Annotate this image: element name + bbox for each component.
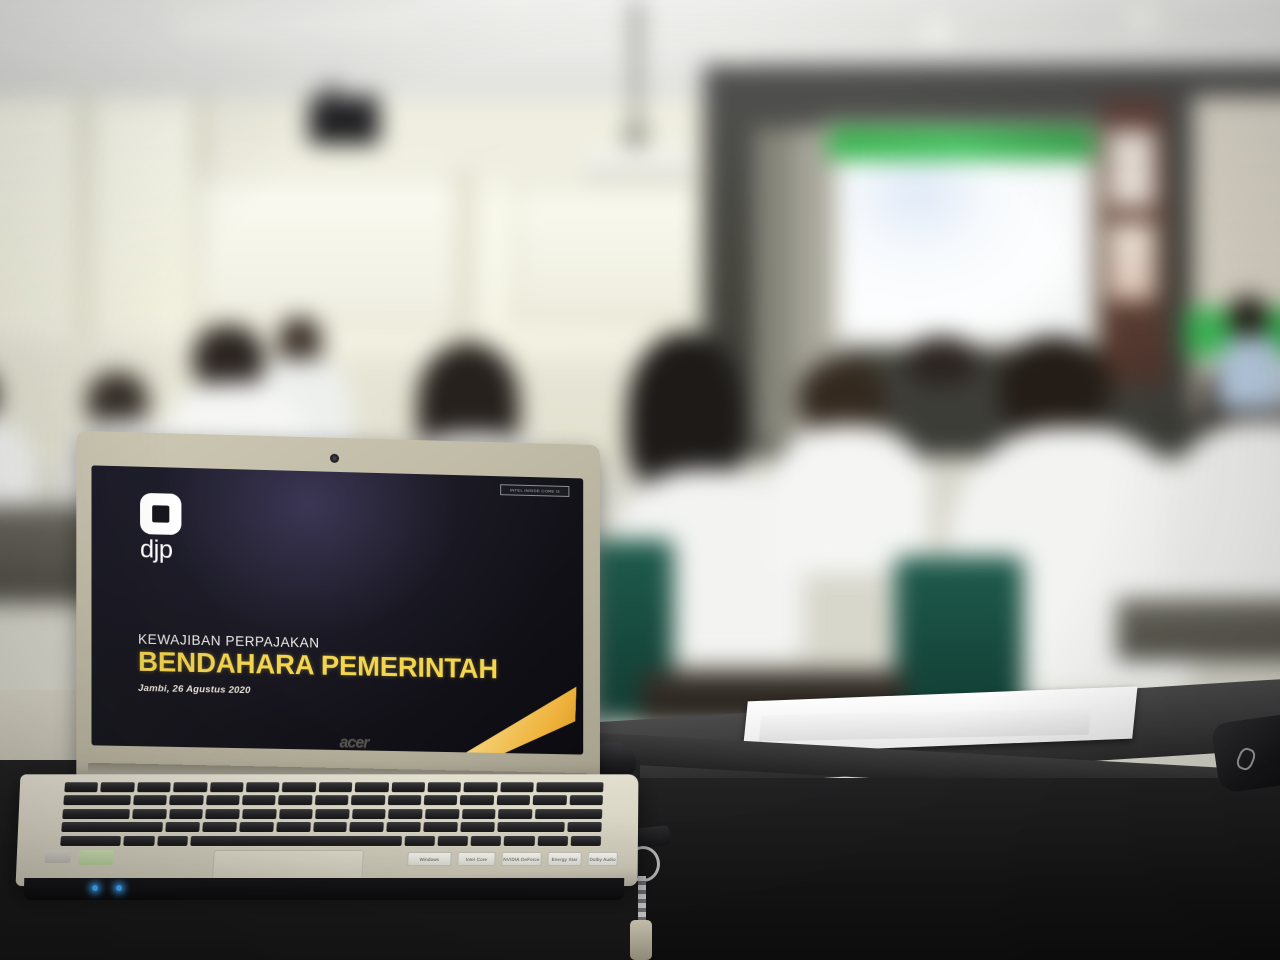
screen-spec-sticker: INTEL INSIDE CORE i3 bbox=[500, 484, 569, 497]
key bbox=[157, 836, 188, 846]
charge-led-icon bbox=[116, 885, 122, 891]
keyboard-row bbox=[61, 822, 602, 832]
air-conditioner bbox=[585, 149, 691, 179]
key bbox=[242, 809, 276, 819]
key bbox=[567, 822, 601, 832]
wall-poster-1 bbox=[1109, 130, 1156, 206]
key bbox=[279, 809, 313, 819]
key bbox=[278, 796, 312, 806]
key bbox=[206, 809, 240, 819]
key bbox=[202, 822, 236, 832]
laptop-screen[interactable]: djp KEWAJIBAN PERPAJAKAN BENDAHARA PEMER… bbox=[91, 465, 583, 754]
green-banner-strip bbox=[829, 128, 1094, 160]
palm-sticker-plain bbox=[44, 850, 71, 863]
key bbox=[242, 796, 276, 806]
ceiling-hanger-knob bbox=[625, 126, 646, 147]
key bbox=[210, 782, 244, 792]
key bbox=[387, 796, 421, 806]
presentation-slide: djp KEWAJIBAN PERPAJAKAN BENDAHARA PEMER… bbox=[91, 465, 583, 754]
djp-logo-word: djp bbox=[140, 537, 192, 563]
acer-brand-logo: acer bbox=[314, 733, 394, 753]
key bbox=[471, 836, 502, 846]
ceiling-light-4 bbox=[1121, 5, 1163, 33]
slide-text-block: KEWAJIBAN PERPAJAKAN BENDAHARA PEMERINTA… bbox=[138, 631, 498, 701]
palm-sticker-intel: Intel Core bbox=[457, 852, 496, 866]
key bbox=[351, 796, 385, 806]
key bbox=[504, 836, 535, 846]
laptop-front-edge bbox=[24, 878, 625, 900]
djp-logo: djp bbox=[140, 493, 192, 564]
key bbox=[535, 809, 603, 819]
key bbox=[438, 836, 469, 846]
palm-sticker-green bbox=[78, 850, 113, 865]
laptop-base: Windows Intel Core NVIDIA GeForce Energy… bbox=[16, 774, 639, 886]
key bbox=[533, 796, 567, 806]
key bbox=[124, 836, 155, 846]
djp-square-mark-icon bbox=[140, 493, 181, 535]
key bbox=[460, 822, 494, 832]
palm-sticker-energy-star: Energy Star bbox=[547, 852, 582, 866]
key-tag bbox=[630, 920, 652, 960]
wall-monitor bbox=[309, 96, 379, 144]
key bbox=[460, 796, 494, 806]
key bbox=[537, 782, 604, 792]
palm-sticker-windows: Windows bbox=[407, 852, 452, 866]
key bbox=[101, 782, 135, 792]
key bbox=[133, 796, 167, 806]
key bbox=[62, 809, 130, 819]
key bbox=[169, 796, 203, 806]
key bbox=[462, 809, 496, 819]
key bbox=[497, 822, 565, 832]
whiteboard-left bbox=[197, 175, 462, 323]
key bbox=[313, 822, 347, 832]
key bbox=[315, 809, 349, 819]
wall-poster-2 bbox=[1109, 223, 1156, 299]
key bbox=[355, 782, 389, 792]
key bbox=[497, 796, 531, 806]
desk-front-panel bbox=[600, 778, 1280, 960]
key bbox=[388, 809, 422, 819]
key bbox=[246, 782, 280, 792]
key bbox=[386, 822, 420, 832]
slide-title: BENDAHARA PEMERINTAH bbox=[138, 646, 498, 683]
key bbox=[64, 782, 98, 792]
palm-sticker-dolby: Dolby Audio bbox=[587, 852, 618, 866]
space-key bbox=[190, 836, 402, 846]
power-led-icon bbox=[92, 885, 98, 891]
key bbox=[425, 809, 459, 819]
whiteboard-center bbox=[513, 183, 704, 321]
key bbox=[500, 782, 534, 792]
key bbox=[60, 836, 121, 846]
screen-spec-sticker-text: INTEL INSIDE CORE i3 bbox=[510, 488, 560, 494]
key bbox=[132, 809, 166, 819]
key bbox=[166, 822, 200, 832]
photo-scene: djp KEWAJIBAN PERPAJAKAN BENDAHARA PEMER… bbox=[0, 0, 1280, 960]
key bbox=[137, 782, 171, 792]
key bbox=[569, 796, 603, 806]
keyboard-row bbox=[63, 796, 603, 806]
key bbox=[350, 822, 384, 832]
key bbox=[424, 796, 458, 806]
key bbox=[173, 782, 207, 792]
key bbox=[498, 809, 532, 819]
projector-screen bbox=[837, 160, 1089, 342]
key bbox=[391, 782, 425, 792]
key bbox=[206, 796, 240, 806]
key bbox=[61, 822, 163, 832]
ceiling-hanger-rod bbox=[634, 1, 639, 137]
trackpad[interactable] bbox=[212, 850, 364, 880]
laptop-lid: djp KEWAJIBAN PERPAJAKAN BENDAHARA PEMER… bbox=[76, 431, 600, 788]
key bbox=[404, 836, 435, 846]
key bbox=[315, 796, 349, 806]
key bbox=[319, 782, 353, 792]
ceiling-light-3 bbox=[916, 18, 958, 46]
interior-desk-right bbox=[1117, 599, 1280, 660]
key bbox=[63, 796, 130, 806]
key bbox=[239, 822, 273, 832]
key bbox=[537, 836, 568, 846]
key bbox=[423, 822, 457, 832]
webcam-icon bbox=[330, 454, 339, 463]
key bbox=[282, 782, 316, 792]
palm-sticker-nvidia: NVIDIA GeForce bbox=[501, 852, 542, 866]
laptop[interactable]: djp KEWAJIBAN PERPAJAKAN BENDAHARA PEMER… bbox=[18, 438, 638, 908]
key bbox=[169, 809, 203, 819]
keyboard[interactable] bbox=[60, 782, 603, 844]
key bbox=[428, 782, 462, 792]
keyboard-row bbox=[62, 809, 602, 819]
key bbox=[570, 836, 601, 846]
keyboard-row bbox=[60, 836, 601, 846]
key bbox=[276, 822, 310, 832]
key bbox=[352, 809, 386, 819]
keyboard-row bbox=[64, 782, 603, 792]
key bbox=[464, 782, 498, 792]
